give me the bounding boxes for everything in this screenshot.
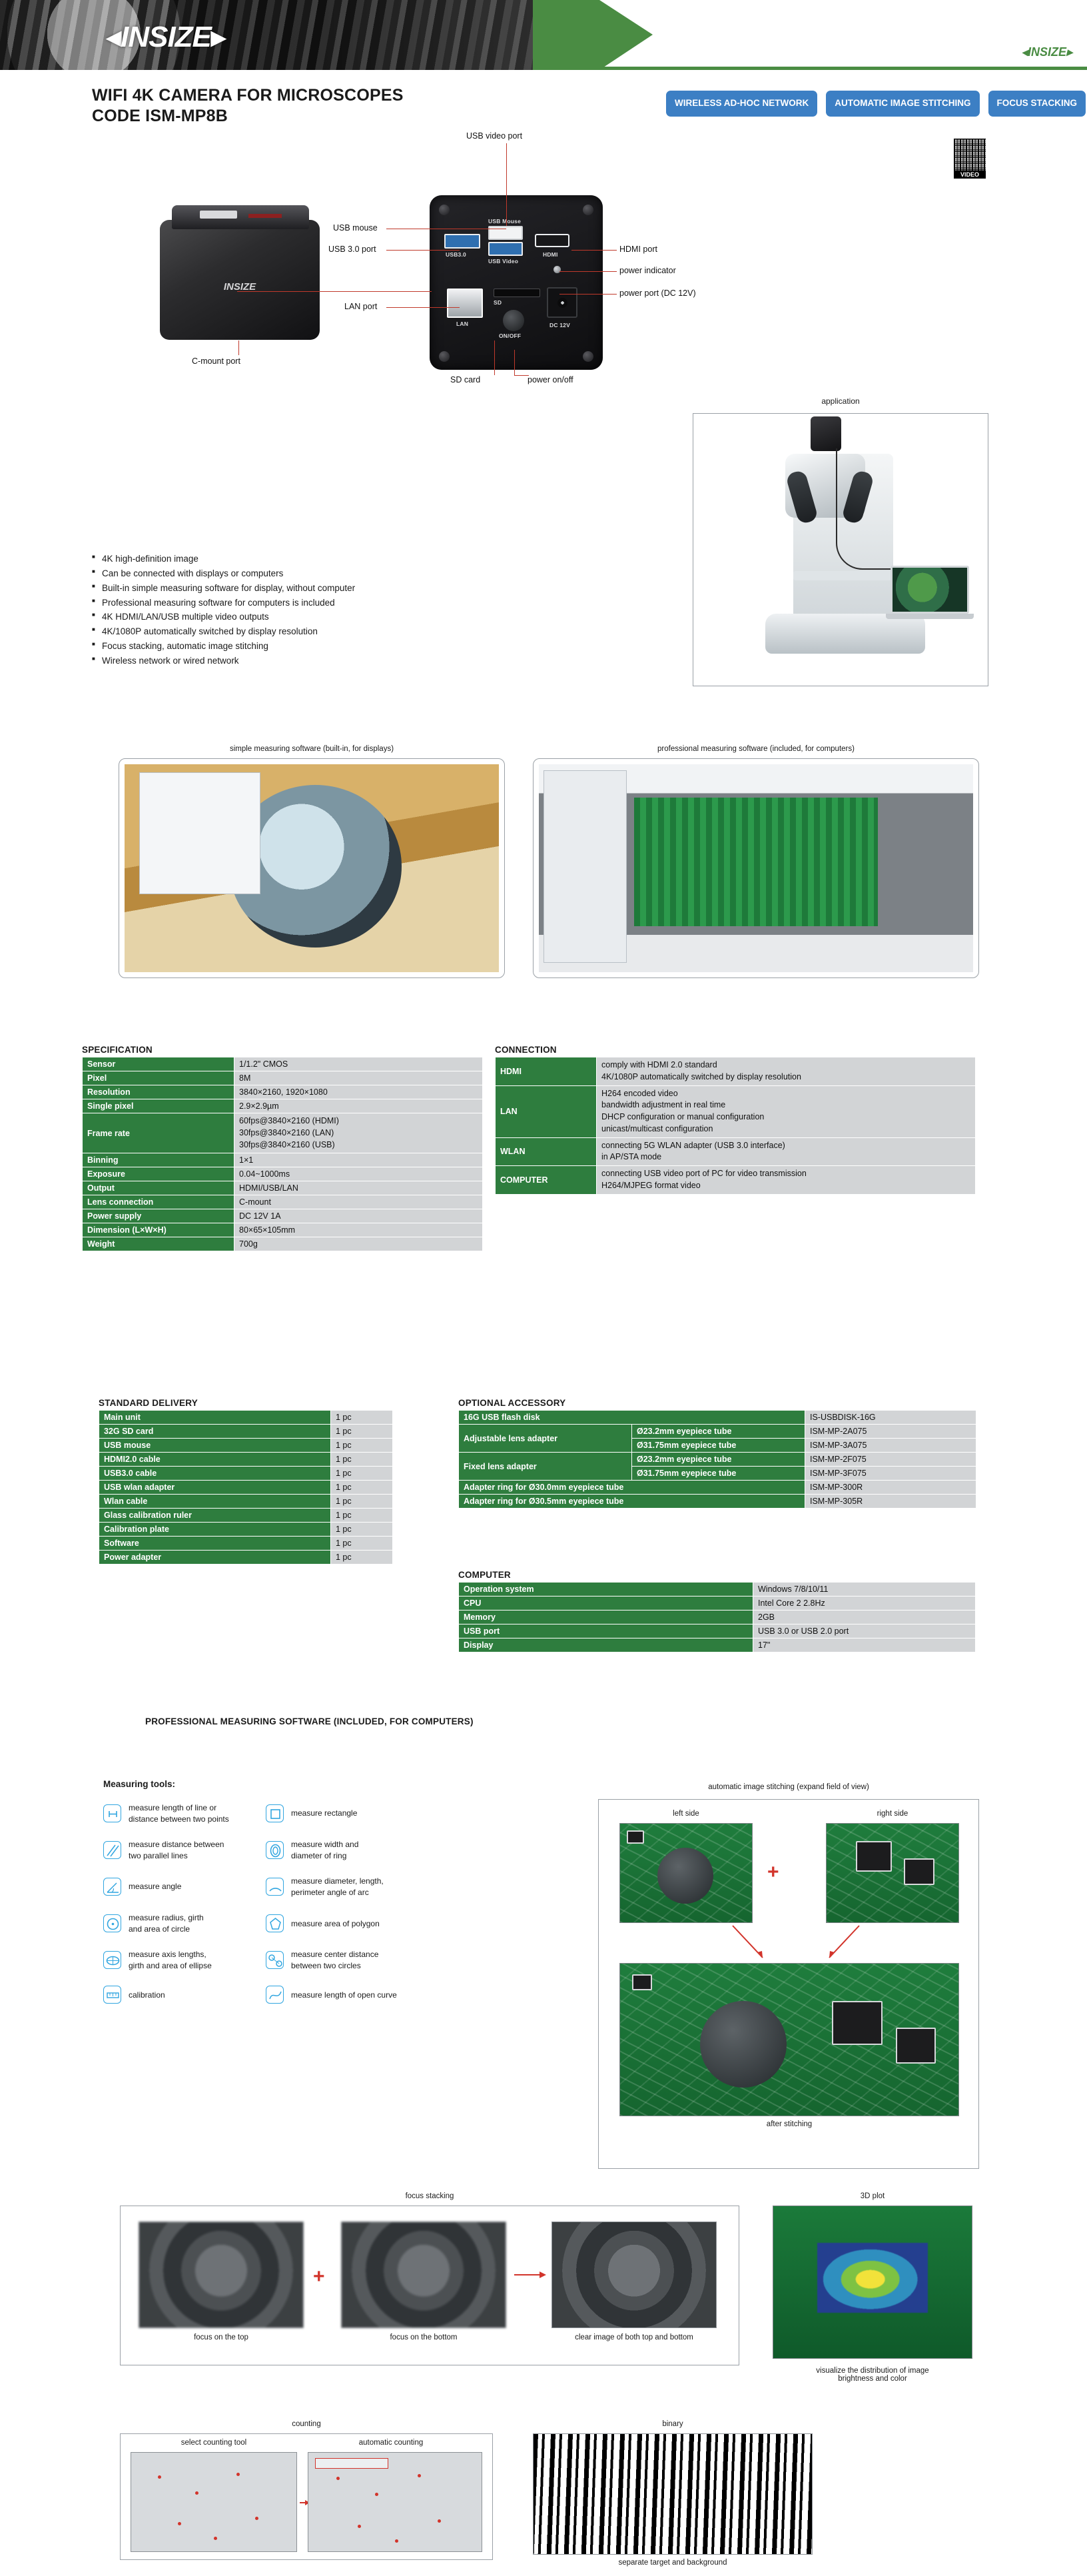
delivery-item: Glass calibration ruler xyxy=(99,1509,331,1523)
delivery-item: USB3.0 cable xyxy=(99,1467,331,1481)
callout-lan-port: LAN port xyxy=(344,302,377,311)
counting-left-label: select counting tool xyxy=(131,2439,297,2447)
callout-hdmi-port: HDMI port xyxy=(619,245,657,254)
table-row: Power adapter1 pc xyxy=(99,1551,393,1565)
badge-wireless-adhoc: WIRELESS AD-HOC NETWORK xyxy=(666,91,817,117)
accessory-variant: Ø31.75mm eyepiece tube xyxy=(632,1439,805,1453)
stitching-arrows xyxy=(693,1924,893,1963)
counting-right-label: automatic counting xyxy=(308,2439,474,2447)
badge-focus-stacking: FOCUS STACKING xyxy=(988,91,1086,117)
spec-key: Frame rate xyxy=(83,1113,234,1153)
computer-key: Operation system xyxy=(459,1583,753,1597)
connection-heading: CONNECTION xyxy=(495,1045,557,1055)
accessory-name: Adapter ring for Ø30.0mm eyepiece tube xyxy=(459,1481,805,1495)
spec-key: Exposure xyxy=(83,1167,234,1181)
computer-key: CPU xyxy=(459,1597,753,1610)
count-marker xyxy=(195,2491,198,2495)
spec-key: Single pixel xyxy=(83,1099,234,1113)
accessory-name: Adjustable lens adapter xyxy=(459,1425,632,1453)
feature-item: Focus stacking, automatic image stitchin… xyxy=(92,639,355,654)
delivery-item: HDMI2.0 cable xyxy=(99,1453,331,1467)
spec-value: 8M xyxy=(234,1071,483,1085)
stitching-left-label: left side xyxy=(619,1810,753,1818)
video-qr-code[interactable]: VIDEO xyxy=(954,139,986,179)
table-row: Glass calibration ruler1 pc xyxy=(99,1509,393,1523)
focus-plus-sign: + xyxy=(313,2267,325,2287)
plot3d-image xyxy=(773,2206,972,2359)
microscope-photo xyxy=(693,414,988,686)
application-image-panel xyxy=(693,413,988,686)
two-circles-distance-icon xyxy=(266,1951,284,1969)
table-row: Calibration plate1 pc xyxy=(99,1523,393,1537)
badge-auto-stitching: AUTOMATIC IMAGE STITCHING xyxy=(826,91,979,117)
spec-key: Lens connection xyxy=(83,1195,234,1209)
computer-heading: COMPUTER xyxy=(458,1570,511,1580)
specification-table: Sensor1/1.2" CMOS Pixel8M Resolution3840… xyxy=(82,1057,483,1251)
brand-logo-secondary-text: INSIZE xyxy=(1028,45,1066,59)
accessory-variant: Ø31.75mm eyepiece tube xyxy=(632,1467,805,1481)
feature-item: Wireless network or wired network xyxy=(92,654,355,668)
tool-angle-measure[interactable]: measure angle xyxy=(103,1876,255,1898)
standard-delivery-table: Main unit1 pc 32G SD card1 pc USB mouse1… xyxy=(99,1410,393,1565)
delivery-item: Main unit xyxy=(99,1411,331,1425)
usb-video-port xyxy=(488,242,523,256)
tool-ring-measure[interactable]: measure width and diameter of ring xyxy=(266,1839,418,1861)
page-banner: ◂INSIZE▸ ◂INSIZE▸ xyxy=(0,0,1087,70)
table-row: Resolution3840×2160, 1920×1080 xyxy=(83,1085,483,1099)
delivery-item: Software xyxy=(99,1537,331,1551)
table-row: Power supplyDC 12V 1A xyxy=(83,1209,483,1223)
ring-measure-icon xyxy=(266,1841,284,1859)
counting-title: counting xyxy=(120,2420,493,2428)
standard-delivery-heading: STANDARD DELIVERY xyxy=(99,1398,198,1408)
computer-value: 17" xyxy=(753,1638,976,1652)
delivery-qty: 1 pc xyxy=(331,1551,393,1565)
dc-jack-pin xyxy=(557,298,567,308)
callout-usb30-port: USB 3.0 port xyxy=(328,245,376,254)
tool-parallel-lines[interactable]: measure distance between two parallel li… xyxy=(103,1839,255,1861)
application-caption: application xyxy=(693,396,988,406)
lan-port xyxy=(447,289,483,318)
pcb-chip xyxy=(627,1830,644,1844)
simple-software-screenshot-panel xyxy=(119,758,505,978)
binary-image xyxy=(533,2433,813,2555)
connection-key: COMPUTER xyxy=(496,1166,597,1195)
pcb-component-circle xyxy=(657,1848,713,1904)
table-row: Binning1×1 xyxy=(83,1153,483,1167)
delivery-qty: 1 pc xyxy=(331,1425,393,1439)
feature-badges: WIRELESS AD-HOC NETWORK AUTOMATIC IMAGE … xyxy=(666,91,1086,117)
table-row: HDMI2.0 cable1 pc xyxy=(99,1453,393,1467)
stitching-title: automatic image stitching (expand field … xyxy=(598,1783,979,1791)
rectangle-measure-icon xyxy=(266,1804,284,1822)
feature-item: Professional measuring software for comp… xyxy=(92,596,355,610)
tool-label: measure angle xyxy=(129,1881,181,1892)
table-row: Adjustable lens adapter Ø23.2mm eyepiece… xyxy=(459,1425,976,1439)
banner-green-rule xyxy=(573,67,1087,70)
table-row: CPUIntel Core 2 2.8Hz xyxy=(459,1597,976,1610)
pcb-chip xyxy=(904,1858,934,1885)
delivery-qty: 1 pc xyxy=(331,1467,393,1481)
count-marker xyxy=(418,2474,421,2477)
focus-top-image xyxy=(139,2222,304,2328)
professional-software-screenshot-panel xyxy=(533,758,979,978)
spec-value: 80×65×105mm xyxy=(234,1223,483,1237)
professional-software-screenshot xyxy=(539,764,973,972)
connection-value: connecting USB video port of PC for vide… xyxy=(597,1166,976,1195)
spec-key: Power supply xyxy=(83,1209,234,1223)
accessory-name: 16G USB flash disk xyxy=(459,1411,805,1425)
port-label-hdmi: HDMI xyxy=(543,251,558,258)
connection-value: comply with HDMI 2.0 standard 4K/1080P a… xyxy=(597,1057,976,1086)
accessory-variant: Ø23.2mm eyepiece tube xyxy=(632,1453,805,1467)
table-row: Single pixel2.9×2.9µm xyxy=(83,1099,483,1113)
callout-c-mount-port: C-mount port xyxy=(192,356,240,366)
connection-table: HDMIcomply with HDMI 2.0 standard 4K/108… xyxy=(495,1057,976,1195)
tool-label: measure width and diameter of ring xyxy=(291,1839,358,1861)
usb-30-port xyxy=(444,234,480,249)
tool-label: measure axis lengths, girth and area of … xyxy=(129,1949,212,1971)
spec-key: Output xyxy=(83,1181,234,1195)
counting-source-image xyxy=(131,2452,297,2552)
microscope-stage xyxy=(793,571,893,580)
stitching-left-image xyxy=(619,1823,753,1923)
connection-cable xyxy=(836,448,897,570)
screw-icon xyxy=(583,351,593,362)
tool-rectangle-measure[interactable]: measure rectangle xyxy=(266,1802,418,1824)
spec-key: Weight xyxy=(83,1237,234,1251)
hdmi-port xyxy=(535,234,569,247)
connection-key: LAN xyxy=(496,1085,597,1137)
delivery-qty: 1 pc xyxy=(331,1481,393,1495)
screw-icon xyxy=(439,351,450,362)
callout-power-indicator: power indicator xyxy=(619,266,676,275)
accessory-code: ISM-MP-3A075 xyxy=(805,1439,976,1453)
port-label-usb-video: USB Video xyxy=(488,258,518,265)
plot3d-title: 3D plot xyxy=(773,2192,972,2200)
specification-heading: SPECIFICATION xyxy=(82,1045,153,1055)
leader-line-power-port xyxy=(559,294,617,295)
tool-circle-measure[interactable]: measure radius, girth and area of circle xyxy=(103,1912,255,1934)
page-title: WIFI 4K CAMERA FOR MICROSCOPES CODE ISM-… xyxy=(92,85,404,127)
leader-line-c-mount xyxy=(238,340,239,355)
power-button[interactable] xyxy=(503,310,524,331)
mounted-camera xyxy=(811,416,841,451)
count-marker xyxy=(158,2475,161,2479)
table-row: Weight700g xyxy=(83,1237,483,1251)
delivery-qty: 1 pc xyxy=(331,1453,393,1467)
table-row: 16G USB flash disk IS-USBDISK-16G xyxy=(459,1411,976,1425)
spec-value: 700g xyxy=(234,1237,483,1251)
table-row: USB3.0 cable1 pc xyxy=(99,1467,393,1481)
accessory-code: IS-USBDISK-16G xyxy=(805,1411,976,1425)
plot3d-caption: visualize the distribution of image brig… xyxy=(766,2367,979,2383)
tool-label: measure radius, girth and area of circle xyxy=(129,1912,204,1934)
caption-simple-software: simple measuring software (built-in, for… xyxy=(119,745,505,753)
spec-value: 2.9×2.9µm xyxy=(234,1099,483,1113)
parallel-lines-icon xyxy=(103,1841,121,1859)
delivery-item: USB mouse xyxy=(99,1439,331,1453)
professional-software-heading: PROFESSIONAL MEASURING SOFTWARE (INCLUDE… xyxy=(145,1716,474,1726)
computer-key: Display xyxy=(459,1638,753,1652)
banner-background-image xyxy=(0,0,586,70)
product-title: WIFI 4K CAMERA FOR MICROSCOPES xyxy=(92,85,404,106)
counting-toolbar xyxy=(315,2458,388,2469)
accessory-code: ISM-MP-2F075 xyxy=(805,1453,976,1467)
count-marker xyxy=(255,2517,258,2520)
table-row: LANH264 encoded video bandwidth adjustme… xyxy=(496,1085,976,1137)
laptop-image xyxy=(891,566,978,623)
spec-value: 0.04~1000ms xyxy=(234,1167,483,1181)
accessory-code: ISM-MP-2A075 xyxy=(805,1425,976,1439)
table-row: USB portUSB 3.0 or USB 2.0 port xyxy=(459,1624,976,1638)
connection-key: HDMI xyxy=(496,1057,597,1086)
count-marker xyxy=(438,2519,441,2523)
leader-line-onoff-h xyxy=(514,375,529,376)
spec-key: Resolution xyxy=(83,1085,234,1099)
delivery-item: Power adapter xyxy=(99,1551,331,1565)
feature-item: Can be connected with displays or comput… xyxy=(92,566,355,581)
leader-line-usb30 xyxy=(386,250,460,251)
computer-value: 2GB xyxy=(753,1610,976,1624)
leader-line-onoff xyxy=(514,350,515,375)
leader-line-sd-card xyxy=(494,340,495,375)
spec-key: Binning xyxy=(83,1153,234,1167)
focus-caption-top: focus on the top xyxy=(139,2333,304,2341)
count-marker xyxy=(214,2537,217,2540)
table-row: Sensor1/1.2" CMOS xyxy=(83,1057,483,1071)
focus-arrow xyxy=(514,2269,547,2281)
count-marker xyxy=(236,2473,240,2476)
count-marker xyxy=(336,2477,340,2480)
tool-line-measure[interactable]: measure length of line or distance betwe… xyxy=(103,1802,255,1824)
power-indicator-led xyxy=(553,266,561,273)
count-marker xyxy=(375,2493,378,2496)
accessory-code: ISM-MP-305R xyxy=(805,1495,976,1509)
accessory-name: Fixed lens adapter xyxy=(459,1453,632,1481)
table-row: Lens connectionC-mount xyxy=(83,1195,483,1209)
open-curve-icon xyxy=(266,1986,284,2004)
delivery-qty: 1 pc xyxy=(331,1411,393,1425)
table-row: Adapter ring for Ø30.5mm eyepiece tube I… xyxy=(459,1495,976,1509)
laptop-screen xyxy=(891,566,969,614)
stitching-plus-sign: + xyxy=(767,1862,779,1882)
screw-icon xyxy=(583,205,593,215)
tool-label: calibration xyxy=(129,1990,165,2001)
binary-caption: separate target and background xyxy=(533,2559,813,2567)
port-label-usb-mouse: USB Mouse xyxy=(488,218,521,225)
circle-measure-icon xyxy=(103,1914,121,1932)
measuring-tools-grid: measure length of line or distance betwe… xyxy=(103,1802,418,2004)
sd-card-slot xyxy=(494,289,540,297)
pcb-component-circle xyxy=(700,2001,787,2088)
delivery-qty: 1 pc xyxy=(331,1495,393,1509)
spec-key: Sensor xyxy=(83,1057,234,1071)
connection-key: WLAN xyxy=(496,1137,597,1166)
camera-rear-panel-image: USB Mouse USB3.0 USB Video HDMI LAN SD O… xyxy=(430,195,603,370)
count-marker xyxy=(395,2539,398,2543)
port-label-usb30: USB3.0 xyxy=(446,251,466,258)
table-row: COMPUTERconnecting USB video port of PC … xyxy=(496,1166,976,1195)
spec-value: DC 12V 1A xyxy=(234,1209,483,1223)
computer-key: USB port xyxy=(459,1624,753,1638)
callout-power-onoff: power on/off xyxy=(528,375,573,384)
feature-item: 4K/1080P automatically switched by displ… xyxy=(92,624,355,639)
tool-polygon-area[interactable]: measure area of polygon xyxy=(266,1912,418,1934)
brand-logo-text: INSIZE xyxy=(121,21,211,53)
counting-result-image xyxy=(308,2452,482,2552)
leader-line-usb-video xyxy=(506,143,507,226)
spec-value: 3840×2160, 1920×1080 xyxy=(234,1085,483,1099)
spec-value: 60fps@3840×2160 (HDMI) 30fps@3840×2160 (… xyxy=(234,1113,483,1153)
leader-line-hdmi xyxy=(571,250,617,251)
brand-logo: ◂INSIZE▸ xyxy=(107,20,225,54)
leader-line-power-indicator xyxy=(559,271,617,272)
feature-item: 4K high-definition image xyxy=(92,552,355,566)
spec-value: 1×1 xyxy=(234,1153,483,1167)
computer-value: USB 3.0 or USB 2.0 port xyxy=(753,1624,976,1638)
connection-value: H264 encoded video bandwidth adjustment … xyxy=(597,1085,976,1137)
port-label-onoff: ON/OFF xyxy=(499,332,521,339)
after-stitching-label: after stitching xyxy=(619,2120,959,2128)
leader-line-c-mount-horizontal xyxy=(237,291,432,292)
table-row: Fixed lens adapter Ø23.2mm eyepiece tube… xyxy=(459,1453,976,1467)
table-row: Dimension (L×W×H)80×65×105mm xyxy=(83,1223,483,1237)
pcb-chip xyxy=(856,1841,892,1872)
arc-measure-icon xyxy=(266,1878,284,1896)
banner-green-chevron xyxy=(533,0,653,70)
table-row: OutputHDMI/USB/LAN xyxy=(83,1181,483,1195)
spec-value: C-mount xyxy=(234,1195,483,1209)
accessory-variant: Ø23.2mm eyepiece tube xyxy=(632,1425,805,1439)
pcb-chip xyxy=(896,2028,936,2064)
binary-title: binary xyxy=(533,2420,813,2428)
callout-usb-mouse: USB mouse xyxy=(333,223,378,233)
stitching-right-label: right side xyxy=(826,1810,959,1818)
tool-ellipse-measure[interactable]: measure axis lengths, girth and area of … xyxy=(103,1949,255,1971)
optional-accessory-heading: OPTIONAL ACCESSORY xyxy=(458,1398,565,1408)
callout-power-port: power port (DC 12V) xyxy=(619,289,696,298)
delivery-item: Wlan cable xyxy=(99,1495,331,1509)
tool-label: measure length of open curve xyxy=(291,1990,397,2001)
delivery-item: Calibration plate xyxy=(99,1523,331,1537)
count-marker xyxy=(358,2525,361,2528)
caption-professional-software: professional measuring software (include… xyxy=(533,745,979,753)
tool-calibration[interactable]: calibration xyxy=(103,1986,255,2004)
table-row: Pixel8M xyxy=(83,1071,483,1085)
table-row: Exposure0.04~1000ms xyxy=(83,1167,483,1181)
table-row: Display17" xyxy=(459,1638,976,1652)
tool-label: measure area of polygon xyxy=(291,1918,380,1930)
focus-caption-bottom: focus on the bottom xyxy=(341,2333,506,2341)
table-row: 32G SD card1 pc xyxy=(99,1425,393,1439)
computer-key: Memory xyxy=(459,1610,753,1624)
measuring-tools-heading: Measuring tools: xyxy=(103,1779,175,1789)
delivery-qty: 1 pc xyxy=(331,1537,393,1551)
qr-code-label: VIDEO xyxy=(954,171,986,179)
table-row: Main unit1 pc xyxy=(99,1411,393,1425)
spec-key: Pixel xyxy=(83,1071,234,1085)
delivery-item: USB wlan adapter xyxy=(99,1481,331,1495)
feature-item: 4K HDMI/LAN/USB multiple video outputs xyxy=(92,610,355,624)
feature-item: Built-in simple measuring software for d… xyxy=(92,581,355,596)
table-row: Memory2GB xyxy=(459,1610,976,1624)
calibration-icon xyxy=(103,1986,121,2004)
port-label-sd: SD xyxy=(494,299,502,306)
accessory-name: Adapter ring for Ø30.5mm eyepiece tube xyxy=(459,1495,805,1509)
port-label-lan: LAN xyxy=(456,321,468,327)
table-row: Adapter ring for Ø30.0mm eyepiece tube I… xyxy=(459,1481,976,1495)
spec-value: HDMI/USB/LAN xyxy=(234,1181,483,1195)
focus-stacked-result-image xyxy=(551,2222,717,2328)
angle-measure-icon xyxy=(103,1878,121,1896)
pcb-chip xyxy=(632,1974,652,1990)
focus-bottom-image xyxy=(341,2222,506,2328)
delivery-qty: 1 pc xyxy=(331,1523,393,1537)
computer-value: Intel Core 2 2.8Hz xyxy=(753,1597,976,1610)
optional-accessory-table: 16G USB flash disk IS-USBDISK-16G Adjust… xyxy=(458,1410,976,1509)
tool-label: measure distance between two parallel li… xyxy=(129,1839,224,1861)
feature-list: 4K high-definition image Can be connecte… xyxy=(92,552,355,668)
ellipse-measure-icon xyxy=(103,1951,121,1969)
accessory-code: ISM-MP-3F075 xyxy=(805,1467,976,1481)
stitching-right-image xyxy=(826,1823,959,1923)
table-row: Wlan cable1 pc xyxy=(99,1495,393,1509)
delivery-qty: 1 pc xyxy=(331,1439,393,1453)
table-row: USB wlan adapter1 pc xyxy=(99,1481,393,1495)
tool-arc-measure[interactable]: measure diameter, length, perimeter angl… xyxy=(266,1876,418,1898)
computer-value: Windows 7/8/10/11 xyxy=(753,1583,976,1597)
tool-two-circles-distance[interactable]: measure center distance between two circ… xyxy=(266,1949,418,1971)
port-label-dc12v: DC 12V xyxy=(549,322,570,328)
brand-logo-secondary: ◂INSIZE▸ xyxy=(1022,45,1072,59)
camera-body-image: INSIZE xyxy=(160,220,320,340)
polygon-area-icon xyxy=(266,1914,284,1932)
line-measure-icon xyxy=(103,1804,121,1822)
spec-key: Dimension (L×W×H) xyxy=(83,1223,234,1237)
tool-label: measure diameter, length, perimeter angl… xyxy=(291,1876,384,1898)
simple-software-screenshot xyxy=(125,764,499,972)
table-row: Software1 pc xyxy=(99,1537,393,1551)
connection-value: connecting 5G WLAN adapter (USB 3.0 inte… xyxy=(597,1137,976,1166)
camera-diagram: INSIZE C-mount port USB Mouse USB3.0 USB… xyxy=(0,143,719,516)
qr-code-icon xyxy=(954,139,986,171)
screw-icon xyxy=(439,205,450,215)
table-row: Frame rate60fps@3840×2160 (HDMI) 30fps@3… xyxy=(83,1113,483,1153)
laptop-base xyxy=(886,614,974,619)
table-row: USB mouse1 pc xyxy=(99,1439,393,1453)
stitched-result-image xyxy=(619,1963,959,2116)
laptop-screen-content xyxy=(893,568,967,612)
spec-value: 1/1.2" CMOS xyxy=(234,1057,483,1071)
tool-label: measure rectangle xyxy=(291,1808,357,1819)
tool-label: measure center distance between two circ… xyxy=(291,1949,378,1971)
tool-open-curve[interactable]: measure length of open curve xyxy=(266,1986,418,2004)
table-row: HDMIcomply with HDMI 2.0 standard 4K/108… xyxy=(496,1057,976,1086)
leader-line-lan xyxy=(386,307,460,308)
pcb-chip xyxy=(832,2001,883,2045)
table-row: Operation systemWindows 7/8/10/11 xyxy=(459,1583,976,1597)
focus-stacking-title: focus stacking xyxy=(120,2192,739,2200)
computer-requirements-table: Operation systemWindows 7/8/10/11 CPUInt… xyxy=(458,1582,976,1652)
accessory-code: ISM-MP-300R xyxy=(805,1481,976,1495)
plot3d-heatmap-surface xyxy=(817,2243,928,2313)
tool-label: measure length of line or distance betwe… xyxy=(129,1802,229,1824)
delivery-qty: 1 pc xyxy=(331,1509,393,1523)
callout-usb-video-port: USB video port xyxy=(466,131,522,141)
count-marker xyxy=(178,2522,181,2525)
leader-line-usb-mouse xyxy=(386,229,506,229)
